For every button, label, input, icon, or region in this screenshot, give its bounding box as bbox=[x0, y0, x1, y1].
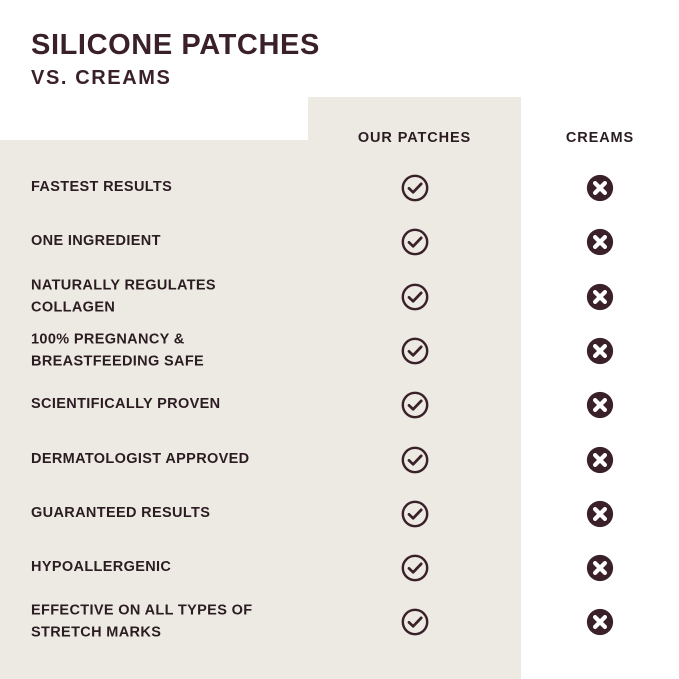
cell-patches bbox=[308, 334, 521, 368]
check-circle-icon bbox=[400, 173, 430, 203]
cell-patches bbox=[308, 443, 521, 477]
column-header-creams: CREAMS bbox=[521, 130, 679, 146]
cross-circle-icon bbox=[586, 174, 614, 202]
table-row: DERMATOLOGIST APPROVED bbox=[0, 438, 679, 482]
cell-creams bbox=[521, 551, 679, 585]
table-row: 100% PREGNANCY & BREASTFEEDING SAFE bbox=[0, 329, 679, 373]
cross-circle-icon bbox=[586, 391, 614, 419]
cross-circle-icon bbox=[586, 554, 614, 582]
table-row: NATURALLY REGULATES COLLAGEN bbox=[0, 275, 679, 319]
title-line-2: VS. CREAMS bbox=[31, 68, 320, 89]
cell-patches bbox=[308, 388, 521, 422]
check-circle-icon bbox=[400, 499, 430, 529]
table-row: SCIENTIFICALLY PROVEN bbox=[0, 383, 679, 427]
cross-circle-icon bbox=[586, 228, 614, 256]
cell-creams bbox=[521, 443, 679, 477]
row-label: NATURALLY REGULATES COLLAGEN bbox=[31, 275, 301, 319]
row-label: DERMATOLOGIST APPROVED bbox=[31, 449, 301, 471]
cell-patches bbox=[308, 497, 521, 531]
cell-patches bbox=[308, 280, 521, 314]
check-circle-icon bbox=[400, 607, 430, 637]
cell-patches bbox=[308, 551, 521, 585]
cell-creams bbox=[521, 225, 679, 259]
cell-creams bbox=[521, 334, 679, 368]
cross-circle-icon bbox=[586, 337, 614, 365]
column-header-patches: OUR PATCHES bbox=[308, 130, 521, 146]
row-label: 100% PREGNANCY & BREASTFEEDING SAFE bbox=[31, 329, 301, 373]
check-circle-icon bbox=[400, 553, 430, 583]
table-row: HYPOALLERGENIC bbox=[0, 546, 679, 590]
row-label: EFFECTIVE ON ALL TYPES OF STRETCH MARKS bbox=[31, 600, 301, 644]
row-label: HYPOALLERGENIC bbox=[31, 557, 301, 579]
comparison-infographic: SILICONE PATCHES VS. CREAMS OUR PATCHES … bbox=[0, 0, 679, 679]
cell-creams bbox=[521, 280, 679, 314]
cross-circle-icon bbox=[586, 446, 614, 474]
row-label: SCIENTIFICALLY PROVEN bbox=[31, 394, 301, 416]
check-circle-icon bbox=[400, 390, 430, 420]
cell-creams bbox=[521, 388, 679, 422]
check-circle-icon bbox=[400, 282, 430, 312]
comparison-rows: FASTEST RESULTSONE INGREDIENTNATURALLY R… bbox=[0, 0, 679, 679]
page-title: SILICONE PATCHES VS. CREAMS bbox=[31, 30, 320, 89]
check-circle-icon bbox=[400, 336, 430, 366]
table-row: GUARANTEED RESULTS bbox=[0, 492, 679, 536]
row-label: ONE INGREDIENT bbox=[31, 231, 301, 253]
cell-patches bbox=[308, 225, 521, 259]
title-line-1: SILICONE PATCHES bbox=[31, 30, 320, 60]
cross-circle-icon bbox=[586, 608, 614, 636]
cross-circle-icon bbox=[586, 500, 614, 528]
table-row: FASTEST RESULTS bbox=[0, 166, 679, 210]
cell-patches bbox=[308, 171, 521, 205]
cell-patches bbox=[308, 605, 521, 639]
cell-creams bbox=[521, 171, 679, 205]
check-circle-icon bbox=[400, 445, 430, 475]
cross-circle-icon bbox=[586, 283, 614, 311]
table-row: ONE INGREDIENT bbox=[0, 220, 679, 264]
row-label: FASTEST RESULTS bbox=[31, 177, 301, 199]
cell-creams bbox=[521, 605, 679, 639]
row-label: GUARANTEED RESULTS bbox=[31, 503, 301, 525]
table-row: EFFECTIVE ON ALL TYPES OF STRETCH MARKS bbox=[0, 600, 679, 644]
check-circle-icon bbox=[400, 227, 430, 257]
cell-creams bbox=[521, 497, 679, 531]
